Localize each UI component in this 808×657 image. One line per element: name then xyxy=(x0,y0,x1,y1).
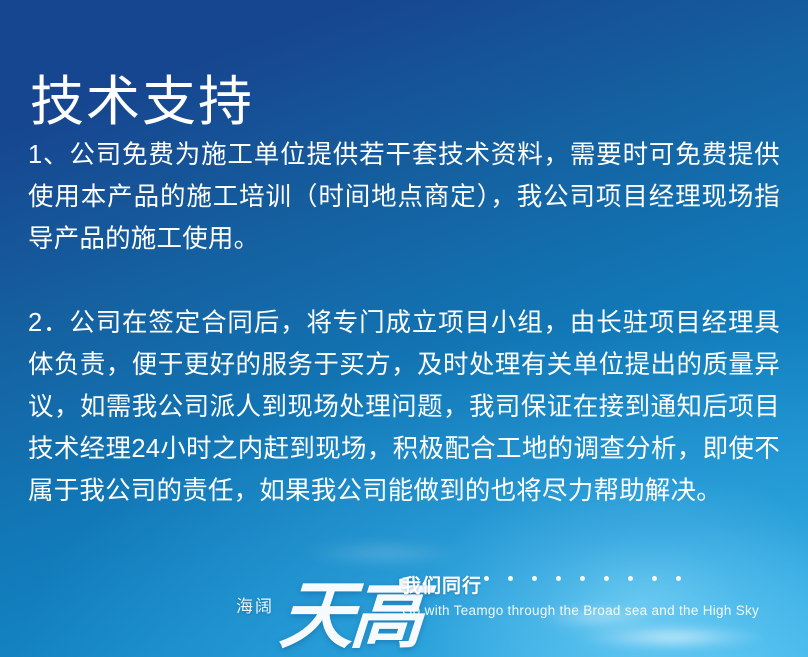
decorative-dot-row xyxy=(484,576,681,581)
cloud-decoration-back xyxy=(300,539,470,565)
dot-icon xyxy=(556,576,561,581)
footer-branding: 海阔 天高 我们同行 Go with Teamgo through the Br… xyxy=(0,527,808,657)
dot-icon xyxy=(580,576,585,581)
body-content: 1、公司免费为施工单位提供若干套技术资料，需要时可免费提供使用本产品的施工培训（… xyxy=(28,134,780,512)
logo-prefix-text: 海阔 xyxy=(236,598,274,615)
paragraph-1: 1、公司免费为施工单位提供若干套技术资料，需要时可免费提供使用本产品的施工培训（… xyxy=(28,134,780,260)
tagline-english: Go with Teamgo through the Broad sea and… xyxy=(402,603,759,619)
paragraph-2: 2．公司在签定合同后，将专门成立项目小组，由长驻项目经理具体负责，便于更好的服务… xyxy=(28,302,780,512)
cloud-decoration-mid xyxy=(538,599,658,629)
tagline-block: 我们同行 Go with Teamgo through the Broad se… xyxy=(402,576,759,619)
dot-icon xyxy=(652,576,657,581)
dot-icon xyxy=(532,576,537,581)
dot-icon xyxy=(484,576,489,581)
slide-canvas: 技术支持 1、公司免费为施工单位提供若干套技术资料，需要时可免费提供使用本产品的… xyxy=(0,0,808,657)
logo-calligraphy-text: 天高 xyxy=(277,579,422,653)
tagline-chinese: 我们同行 xyxy=(402,576,759,598)
dot-icon xyxy=(508,576,513,581)
page-title: 技术支持 xyxy=(30,70,254,134)
cloud-decoration-front xyxy=(578,605,768,651)
dot-icon xyxy=(676,576,681,581)
dot-icon xyxy=(628,576,633,581)
dot-icon xyxy=(604,576,609,581)
company-logo: 海阔 天高 xyxy=(236,579,420,647)
